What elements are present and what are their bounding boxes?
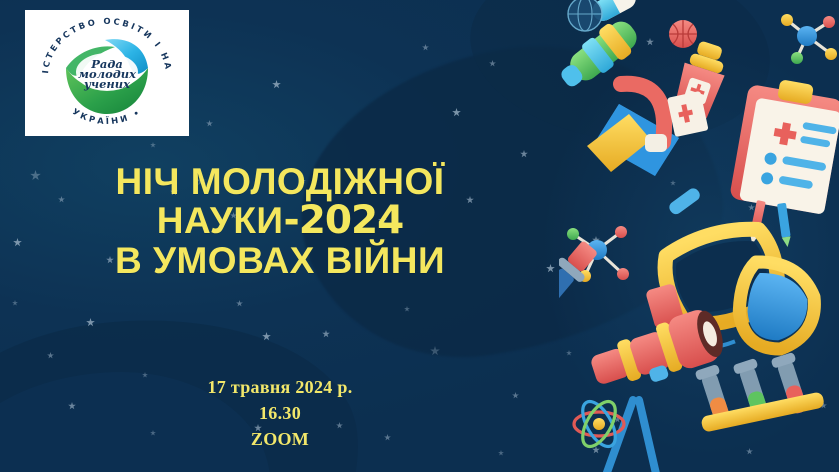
event-date: 17 травня 2024 р. <box>0 374 560 400</box>
logo-graphic: МІНІСТЕРСТВО ОСВІТИ І НАУКИ УКРАЇНИ • Ра… <box>32 14 182 132</box>
event-time: 16.30 <box>0 400 560 426</box>
background-glow-right <box>539 40 839 460</box>
event-details: 17 травня 2024 р. 16.30 ZOOM <box>0 374 560 452</box>
headline-dash: - <box>284 198 299 243</box>
event-platform: ZOOM <box>0 426 560 452</box>
headline-year: 2024 <box>299 198 404 243</box>
event-poster: МІНІСТЕРСТВО ОСВІТИ І НАУКИ УКРАЇНИ • Ра… <box>0 0 839 472</box>
ministry-logo: МІНІСТЕРСТВО ОСВІТИ І НАУКИ УКРАЇНИ • Ра… <box>25 10 189 136</box>
svg-text:учених: учених <box>83 77 130 91</box>
page-title: НІЧ МОЛОДІЖНОЇ НАУКИ-2024 В УМОВАХ ВІЙНИ <box>0 163 560 280</box>
headline-line-2-prefix: НАУКИ <box>157 200 284 241</box>
headline-line-2: НАУКИ-2024 <box>0 201 560 242</box>
headline-line-3: В УМОВАХ ВІЙНИ <box>0 242 560 280</box>
headline-line-1: НІЧ МОЛОДІЖНОЇ <box>0 163 560 201</box>
